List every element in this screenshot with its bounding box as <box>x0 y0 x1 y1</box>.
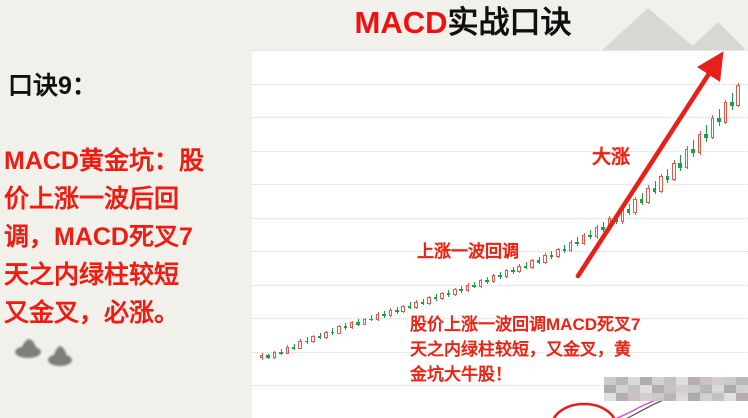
candle-body <box>691 149 695 154</box>
mosaic-cell <box>640 393 652 401</box>
candle-body <box>356 322 360 325</box>
gridline <box>252 184 748 185</box>
candle-body <box>414 302 418 308</box>
mosaic-cell <box>616 393 628 401</box>
candle-body <box>717 118 721 123</box>
candle-body <box>427 297 431 304</box>
candle-body <box>292 347 296 349</box>
candle-body <box>627 209 631 213</box>
candle-body <box>614 218 618 222</box>
candle-body <box>389 310 393 316</box>
mosaic-cell <box>736 393 748 401</box>
candle-body <box>344 326 348 328</box>
candle-body <box>447 293 451 295</box>
candle-body <box>331 332 335 334</box>
candle-body <box>311 336 315 342</box>
candle-body <box>698 134 702 154</box>
candle-body <box>608 218 612 230</box>
gridline <box>252 151 748 152</box>
candle-body <box>653 188 657 192</box>
candle-body <box>363 319 367 325</box>
title-highlight: MACD <box>355 5 448 40</box>
candle-body <box>724 102 728 122</box>
candle-body <box>659 176 663 192</box>
candle-body <box>337 326 341 333</box>
candle-body <box>588 235 592 238</box>
candle-body <box>595 227 599 237</box>
mosaic-cell <box>664 393 676 401</box>
slide-root: MACD实战口诀 口诀9： MACD黄金坑：股 价上涨一波后回 调，MACD死叉… <box>0 0 748 418</box>
candle-body <box>730 102 734 106</box>
candle-body <box>498 275 502 277</box>
candle-body <box>350 322 354 328</box>
annotation-summary-line: 天之内绿柱较短，又金叉，黄 <box>410 337 740 362</box>
candle-body <box>318 336 322 338</box>
candle-body <box>395 310 399 312</box>
page-title: MACD实战口诀 <box>248 4 678 42</box>
candle-wick <box>371 315 372 322</box>
candle-body <box>543 255 547 263</box>
verse-line: 价上涨一波后回 <box>4 180 250 218</box>
gridline <box>252 117 748 118</box>
annotation-summary: 股价上涨一波回调MACD死叉7 天之内绿柱较短，又金叉，黄 金坑大牛股！ <box>410 312 740 387</box>
candle-body <box>382 314 386 316</box>
verse-heading: 口诀9： <box>8 66 97 102</box>
candle-body <box>530 260 534 267</box>
candle-body <box>646 188 650 203</box>
candle-body <box>440 293 444 299</box>
candle-body <box>298 341 302 349</box>
verse-line: 又金叉，必涨。 <box>4 294 250 332</box>
candle-body <box>492 275 496 282</box>
candle-body <box>550 255 554 258</box>
mosaic-cell <box>652 393 664 401</box>
candle-body <box>633 199 637 213</box>
candle-body <box>485 280 489 282</box>
mosaic-cell <box>712 393 724 401</box>
candle-body <box>666 176 670 180</box>
candle-body <box>601 227 605 229</box>
candle-body <box>678 163 682 168</box>
candle-body <box>305 341 309 342</box>
plant-silhouette-icon <box>44 340 78 370</box>
candle-body <box>537 260 541 262</box>
candle-body <box>711 118 715 138</box>
verse-line: 天之内绿柱较短 <box>4 256 250 294</box>
candle-body <box>401 306 405 312</box>
candle-body <box>582 235 586 244</box>
annotation-pullback: 上涨一波回调 <box>417 237 519 262</box>
candle-body <box>517 266 521 273</box>
mosaic-cell <box>676 393 688 401</box>
candle-body <box>479 280 483 287</box>
candle-body <box>563 249 567 251</box>
mosaic-cell <box>628 393 640 401</box>
candle-body <box>672 163 676 180</box>
candle-body <box>704 134 708 139</box>
gridline <box>252 50 748 51</box>
candle-body <box>685 149 689 168</box>
candle-body <box>459 289 463 291</box>
candle-body <box>421 302 425 304</box>
left-text-panel: 口诀9： MACD黄金坑：股 价上涨一波后回 调，MACD死叉7 天之内绿柱较短… <box>0 0 250 418</box>
annotation-summary-line: 金坑大牛股！ <box>410 362 740 387</box>
candle-body <box>524 266 528 268</box>
candle-body <box>324 332 328 338</box>
candle-body <box>575 242 579 244</box>
candle-body <box>621 209 625 222</box>
candle-body <box>736 85 740 106</box>
candle-body <box>279 352 283 354</box>
candle-body <box>640 199 644 203</box>
mosaic-cell <box>724 393 736 401</box>
candle-body <box>286 347 290 354</box>
candle-body <box>556 249 560 257</box>
gridline <box>252 84 748 85</box>
verse-line: MACD黄金坑：股 <box>4 142 250 180</box>
candle-body <box>569 242 573 252</box>
candle-body <box>511 270 515 272</box>
candle-body <box>466 285 470 292</box>
gridline <box>252 285 748 286</box>
candle-body <box>376 314 380 320</box>
gridline <box>252 218 748 219</box>
candle-body <box>505 270 509 277</box>
candle-body <box>472 285 476 287</box>
candle-body <box>266 355 270 358</box>
annotation-rise: 大涨 <box>592 142 630 169</box>
mosaic-cell <box>700 393 712 401</box>
mosaic-cell <box>688 393 700 401</box>
title-rest: 实战口诀 <box>448 5 572 40</box>
candle-body <box>260 355 264 357</box>
candle-body <box>453 289 457 295</box>
verse-body: MACD黄金坑：股 价上涨一波后回 调，MACD死叉7 天之内绿柱较短 又金叉，… <box>4 142 250 332</box>
candle-body <box>273 352 277 358</box>
mosaic-cell <box>604 393 616 401</box>
candle-body <box>434 297 438 299</box>
candle-body <box>408 306 412 308</box>
verse-line: 调，MACD死叉7 <box>4 218 250 256</box>
candle-body <box>369 319 373 320</box>
annotation-summary-line: 股价上涨一波回调MACD死叉7 <box>410 312 740 337</box>
